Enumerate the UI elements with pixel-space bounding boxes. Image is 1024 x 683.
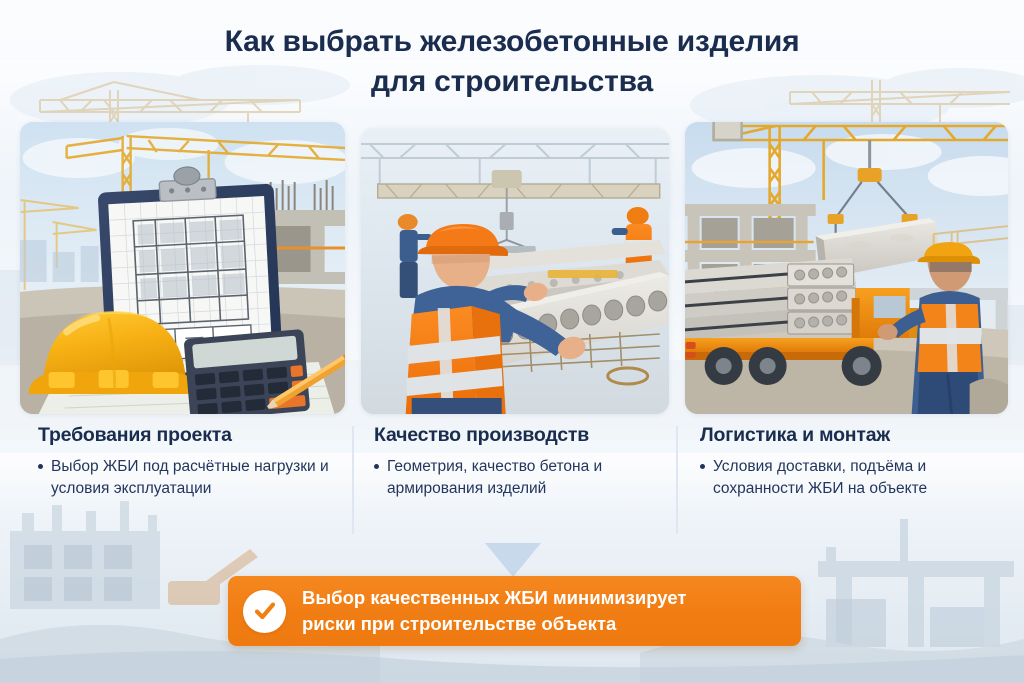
bullet-dot-icon: [374, 464, 379, 469]
column-title-3: Логистика и монтаж: [700, 424, 990, 447]
column-logistics: Логистика и монтаж Условия доставки, под…: [678, 424, 1008, 544]
image-panel-group: A1 A500: [20, 122, 1008, 414]
check-circle-icon: [243, 590, 286, 633]
panel-project-requirements: A1 A500: [20, 122, 345, 414]
bullet-item: Выбор ЖБИ под расчётные нагрузки и услов…: [38, 456, 336, 500]
column-title-1: Требования проекта: [38, 424, 336, 447]
bullet-text-1: Выбор ЖБИ под расчётные нагрузки и услов…: [51, 456, 336, 500]
banner-text-line-2: риски при строительстве объекта: [302, 611, 686, 637]
bullet-text-2: Геометрия, качество бетона и армирования…: [387, 456, 660, 500]
infographic-root: Как выбрать железобетонные изделия для с…: [0, 0, 1024, 683]
page-title-line-2: для строительства: [0, 62, 1024, 102]
bullet-item: Условия доставки, подъёма и сохранности …: [700, 456, 990, 500]
banner-text-line-1: Выбор качественных ЖБИ минимизирует: [302, 585, 686, 611]
bullet-dot-icon: [700, 464, 705, 469]
calculator: [184, 329, 311, 414]
conclusion-banner: Выбор качественных ЖБИ минимизирует риск…: [228, 576, 801, 646]
banner-text: Выбор качественных ЖБИ минимизирует риск…: [302, 585, 686, 638]
logistics-illustration: [685, 122, 1008, 414]
column-text-group: Требования проекта Выбор ЖБИ под расчётн…: [20, 424, 1008, 544]
bullet-text-3: Условия доставки, подъёма и сохранности …: [713, 456, 990, 500]
column-production-quality: Качество производств Геометрия, качество…: [354, 424, 678, 544]
down-arrow-icon: [485, 543, 541, 577]
column-title-2: Качество производств: [374, 424, 660, 447]
panel-logistics: [685, 122, 1008, 414]
bullet-dot-icon: [38, 464, 43, 469]
page-title: Как выбрать железобетонные изделия для с…: [0, 22, 1024, 102]
project-requirements-illustration: A1 A500: [20, 122, 345, 414]
page-title-line-1: Как выбрать железобетонные изделия: [0, 22, 1024, 62]
bullet-item: Геометрия, качество бетона и армирования…: [374, 456, 660, 500]
slab-stack: [685, 258, 860, 340]
down-arrow-shape: [485, 543, 541, 577]
panel-production-quality: [361, 128, 668, 414]
production-quality-illustration: [361, 128, 668, 414]
column-project-requirements: Требования проекта Выбор ЖБИ под расчётн…: [20, 424, 354, 544]
